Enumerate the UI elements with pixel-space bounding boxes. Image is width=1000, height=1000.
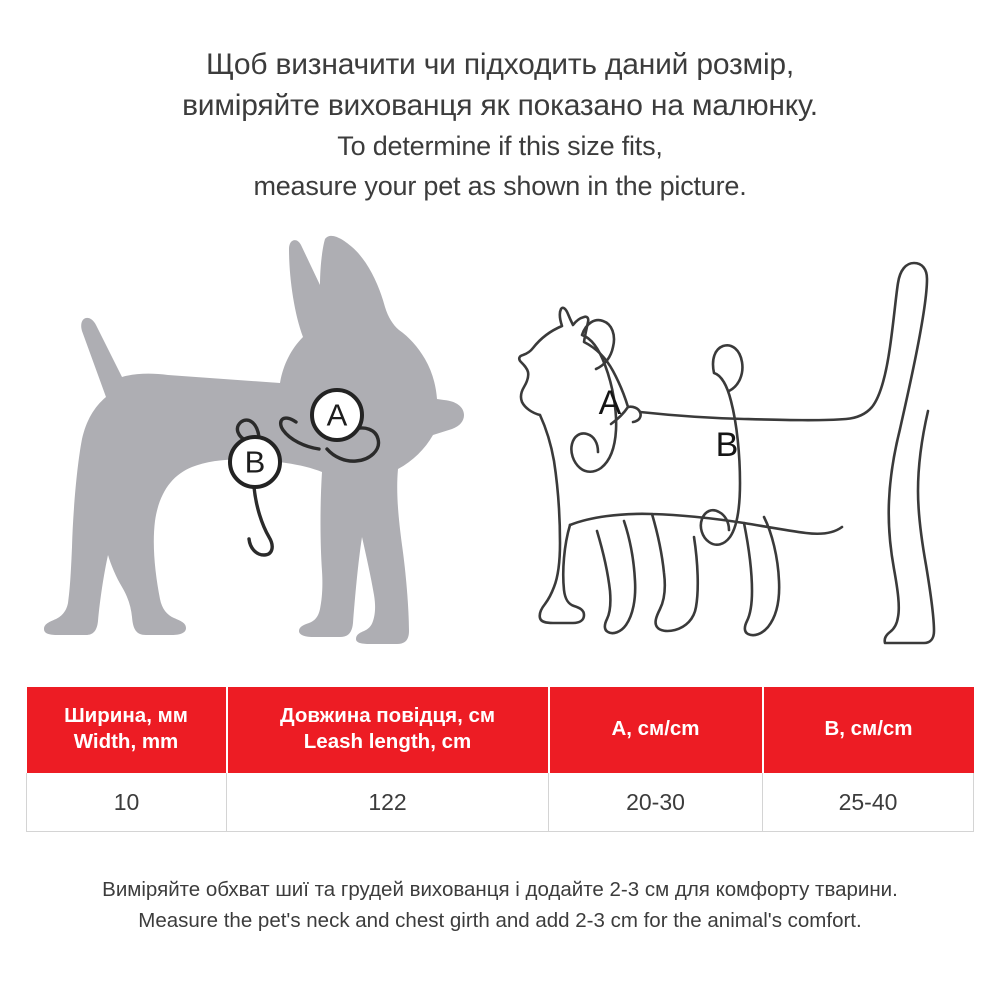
size-chart-body: 10 122 20-30 25-40 xyxy=(27,773,974,832)
size-chart-table: Ширина, мм Width, mm Довжина повідця, см… xyxy=(26,687,974,832)
title-line-ua-2: вимiряйте вихованця як показано на малюн… xyxy=(0,85,1000,126)
cat-far-front-leg-outline-icon xyxy=(597,521,635,633)
footnote-line-ua: Вимiряйте обхват шиї та грудей вихованця… xyxy=(0,874,1000,905)
col-header-leash-length-ua: Довжина повідця, см xyxy=(232,703,544,729)
cat-head-front-outline-icon xyxy=(519,308,640,623)
col-header-width: Ширина, мм Width, mm xyxy=(27,687,227,773)
title-line-en-1: To determine if this size fits, xyxy=(0,126,1000,166)
instruction-title-block: Щоб визначити чи підходить даний розмір,… xyxy=(0,44,1000,206)
footnote-line-en: Measure the pet's neck and chest girth a… xyxy=(0,905,1000,936)
col-header-a: A, см/cm xyxy=(549,687,763,773)
col-header-width-en: Width, mm xyxy=(31,729,222,755)
title-line-ua-1: Щоб визначити чи підходить даний розмір, xyxy=(0,44,1000,85)
col-header-leash-length: Довжина повідця, см Leash length, cm xyxy=(227,687,549,773)
col-header-b-label: B, см/cm xyxy=(768,716,970,742)
cat-label-a-text: A xyxy=(599,384,622,422)
col-header-a-label: A, см/cm xyxy=(554,716,758,742)
measurement-footnote: Вимiряйте обхват шиї та грудей вихованця… xyxy=(0,874,1000,936)
cell-a-value: 20-30 xyxy=(549,773,763,832)
cat-back-tail-outline-icon xyxy=(640,263,934,643)
cat-belly-legs-outline-icon xyxy=(570,514,842,635)
dog-label-a-text: A xyxy=(327,398,348,433)
cell-leash-length-value: 122 xyxy=(227,773,549,832)
cell-b-value: 25-40 xyxy=(763,773,974,832)
cell-width-value: 10 xyxy=(27,773,227,832)
table-row: 10 122 20-30 25-40 xyxy=(27,773,974,832)
pet-measurement-illustration: A B A B xyxy=(0,225,1000,645)
col-header-width-ua: Ширина, мм xyxy=(31,703,222,729)
col-header-b: B, см/cm xyxy=(763,687,974,773)
size-chart-head: Ширина, мм Width, mm Довжина повідця, см… xyxy=(27,687,974,773)
table-header-row: Ширина, мм Width, mm Довжина повідця, см… xyxy=(27,687,974,773)
col-header-leash-length-en: Leash length, cm xyxy=(232,729,544,755)
dog-label-b-text: B xyxy=(245,445,266,480)
cat-label-b-text: B xyxy=(716,426,739,464)
title-line-en-2: measure your pet as shown in the picture… xyxy=(0,166,1000,206)
